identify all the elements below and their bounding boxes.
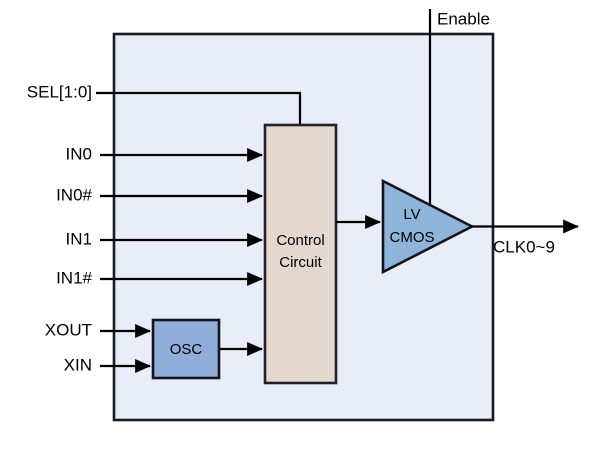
input-label-in0n: IN0# xyxy=(56,185,92,204)
oscillator-label: OSC xyxy=(170,341,203,358)
diagram-canvas: SEL[1:0] IN0 IN0# IN1 IN1# XOUT XIN OSC … xyxy=(0,0,602,450)
input-label-xout: XOUT xyxy=(45,320,92,339)
input-label-enable: Enable xyxy=(437,9,490,28)
lvcmos-label-line1: LV xyxy=(403,206,420,223)
control-circuit-label-line2: Circuit xyxy=(279,254,322,271)
input-label-in1n: IN1# xyxy=(56,268,92,287)
output-label-clk: CLK0~9 xyxy=(493,237,555,256)
control-circuit-label-line1: Control xyxy=(276,232,324,249)
input-label-sel: SEL[1:0] xyxy=(27,82,92,101)
input-label-in0: IN0 xyxy=(66,144,92,163)
lvcmos-label-line2: CMOS xyxy=(390,229,435,246)
block-diagram: SEL[1:0] IN0 IN0# IN1 IN1# XOUT XIN OSC … xyxy=(0,0,602,450)
input-label-xin: XIN xyxy=(64,355,92,374)
input-label-in1: IN1 xyxy=(66,229,92,248)
